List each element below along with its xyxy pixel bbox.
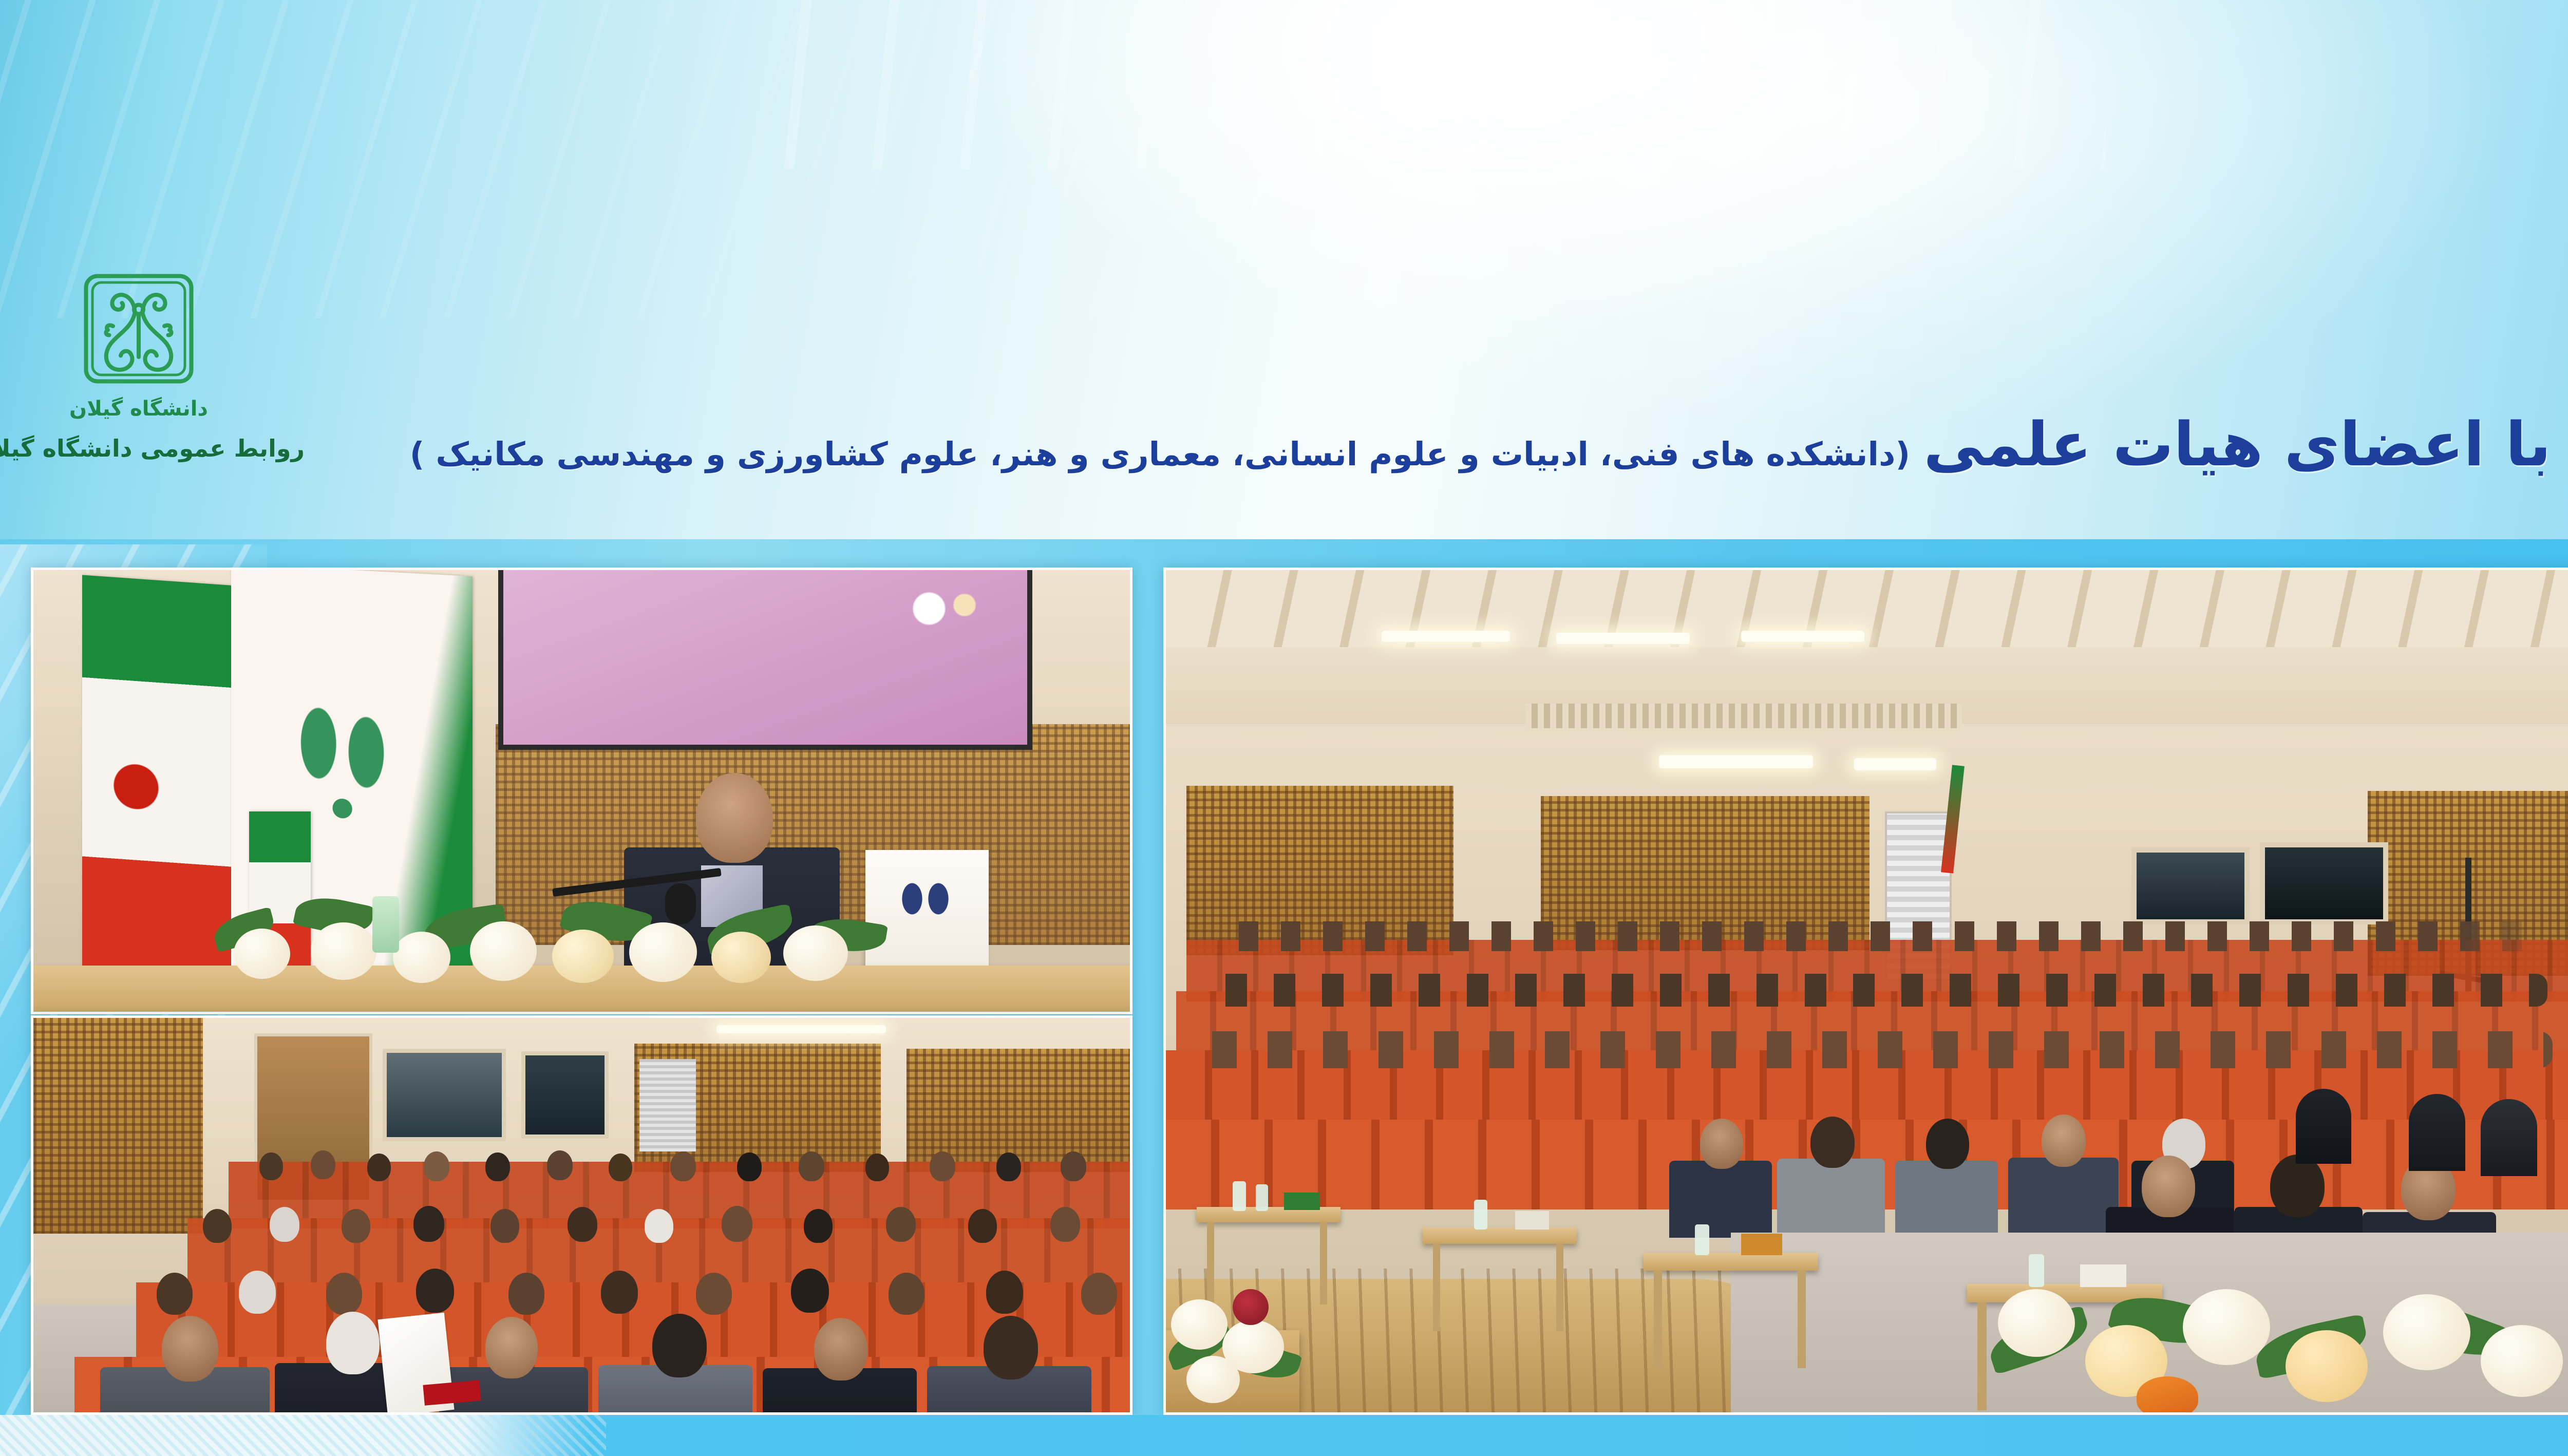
photo-speaker-podium (31, 568, 1132, 1014)
photo-hall-wide (1163, 568, 2568, 1415)
event-banner: دانشگاه گیلان روابط عمومی دانشگاه گیلان … (0, 0, 2568, 1456)
photo-collage (0, 0, 2568, 1456)
photo-audience-left-rows (31, 1015, 1132, 1415)
footer-texture-left (0, 1415, 606, 1456)
